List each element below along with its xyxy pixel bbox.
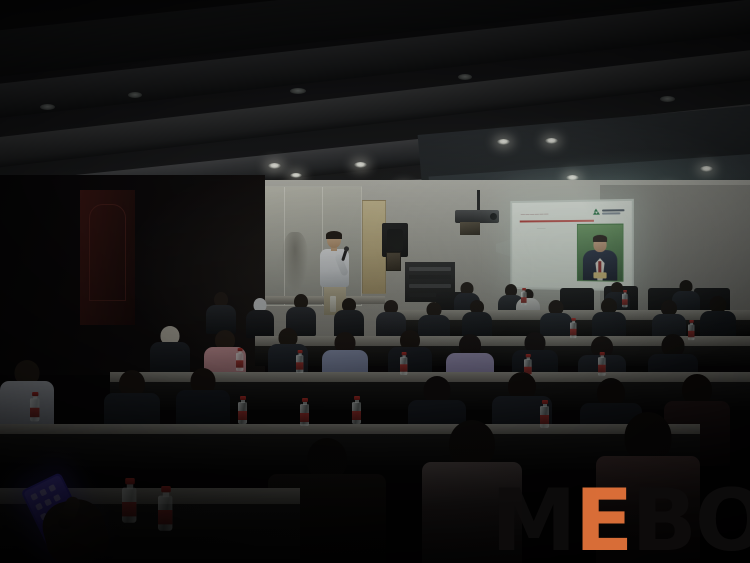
audience-member bbox=[0, 360, 54, 434]
bottle-label bbox=[158, 510, 172, 524]
ceiling-downlight bbox=[497, 139, 510, 145]
presenter-shadow-on-glass bbox=[282, 232, 308, 292]
ceiling-downlight bbox=[128, 92, 142, 98]
watermark-letter-o: O bbox=[695, 486, 750, 557]
ceiling-downlight bbox=[290, 88, 306, 94]
wooden-door[interactable] bbox=[80, 190, 135, 325]
ceiling-downlight bbox=[545, 138, 558, 144]
triangle-logo-icon bbox=[593, 209, 600, 216]
head bbox=[449, 420, 495, 468]
projector-lens-icon bbox=[490, 213, 497, 220]
slide-rule bbox=[520, 220, 594, 222]
bottle-label bbox=[400, 364, 407, 371]
ceiling-downlight bbox=[290, 173, 302, 178]
app-icon[interactable] bbox=[39, 488, 47, 496]
bottle-label bbox=[296, 362, 303, 369]
slide-logo bbox=[593, 208, 625, 216]
bottle-label bbox=[598, 365, 606, 373]
audience-member-foreground bbox=[596, 412, 700, 563]
desk-top bbox=[0, 424, 700, 434]
torso-patterned-top bbox=[422, 462, 522, 563]
audience-member-foreground bbox=[422, 420, 522, 563]
app-icon[interactable] bbox=[53, 494, 61, 502]
bottle-label bbox=[238, 411, 247, 420]
bottle-label bbox=[521, 297, 527, 303]
ceiling-downlight bbox=[660, 96, 675, 102]
speaker-portrait-photo bbox=[577, 224, 624, 282]
app-icon[interactable] bbox=[44, 498, 52, 506]
ceiling-downlight bbox=[40, 104, 55, 110]
slide-title: —————— bbox=[521, 211, 549, 216]
bottle-label bbox=[352, 411, 361, 420]
projection-screen: —————— ——— bbox=[510, 199, 634, 291]
ceiling-downlight bbox=[354, 162, 367, 168]
head bbox=[625, 412, 672, 462]
bottle-label bbox=[300, 413, 309, 422]
app-icon[interactable] bbox=[30, 493, 38, 501]
portrait-hair bbox=[593, 235, 607, 242]
logo-wordmark bbox=[602, 209, 625, 214]
torso bbox=[596, 456, 700, 563]
ceiling-downlight bbox=[268, 163, 281, 169]
bottle-label bbox=[30, 408, 39, 417]
ceiling-downlight bbox=[700, 166, 713, 172]
photo-scene: —————— ——— bbox=[0, 0, 750, 563]
portrait-award bbox=[593, 272, 606, 278]
framed-picture bbox=[460, 222, 480, 235]
presenter-hair bbox=[326, 231, 342, 239]
presentation-slide: —————— ——— bbox=[512, 201, 632, 289]
app-icon[interactable] bbox=[35, 503, 43, 511]
bottle-label bbox=[570, 329, 576, 335]
ceiling-downlight bbox=[458, 74, 472, 80]
projector-mount bbox=[477, 190, 480, 212]
bottle-label bbox=[122, 502, 136, 516]
app-icon[interactable] bbox=[48, 484, 56, 492]
framed-picture bbox=[386, 252, 401, 271]
audience-member bbox=[206, 292, 236, 332]
slide-subtitle: ——— bbox=[537, 226, 546, 230]
bottle-label bbox=[236, 360, 243, 367]
bottle-label bbox=[540, 415, 549, 424]
